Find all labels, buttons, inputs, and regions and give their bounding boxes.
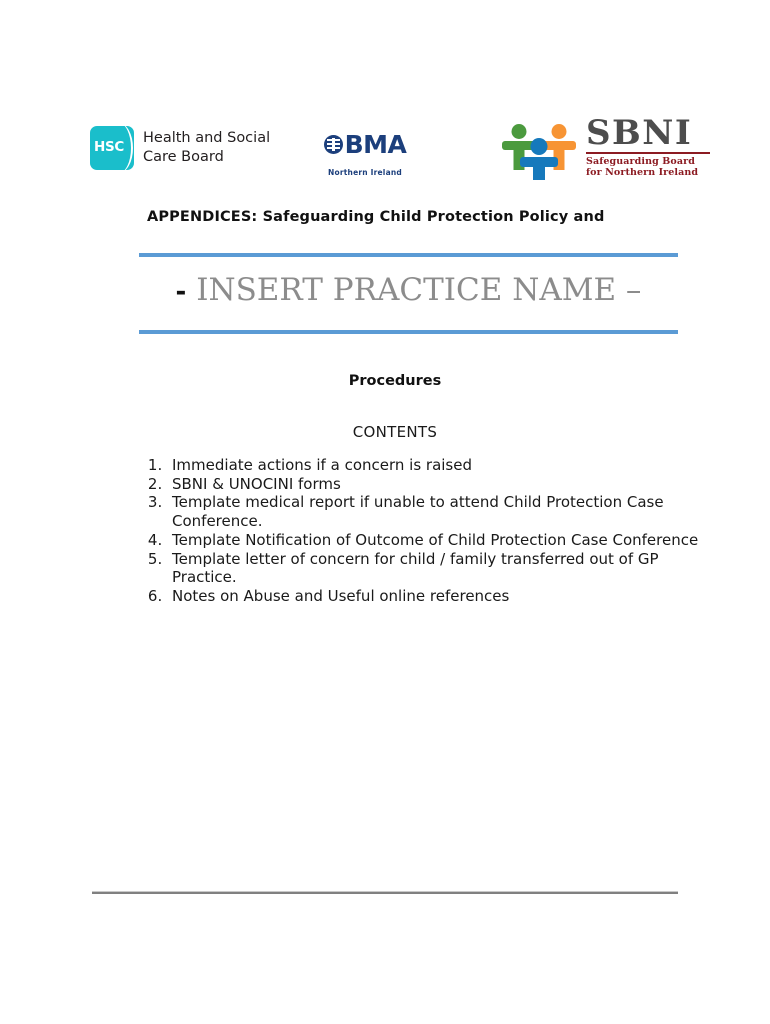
sbni-figure-centre-icon bbox=[520, 138, 558, 178]
sbni-figure-centre-head bbox=[531, 138, 548, 155]
sbni-tagline-line2: for Northern Ireland bbox=[586, 167, 710, 178]
sbni-logo: SBNI Safeguarding Board for Northern Ire… bbox=[500, 116, 710, 178]
hsc-wordmark-line2: Care Board bbox=[143, 148, 270, 167]
bma-roundel-icon bbox=[324, 135, 343, 154]
bma-logo: BMA Northern Ireland bbox=[300, 132, 430, 177]
sbni-tagline-line1: Safeguarding Board bbox=[586, 156, 710, 167]
sbni-acronym: SBNI bbox=[586, 116, 710, 150]
logo-header-strip: HSC Health and Social Care Board BMA Nor… bbox=[0, 112, 770, 198]
appendices-heading: APPENDICES: Safeguarding Child Protectio… bbox=[147, 209, 604, 225]
footer-divider bbox=[92, 891, 678, 894]
hsc-swoosh-secondary-icon bbox=[105, 126, 133, 170]
contents-list-item: Template Notification of Outcome of Chil… bbox=[167, 531, 727, 550]
practice-name-lead-dash: - bbox=[176, 277, 187, 307]
contents-list-item: Immediate actions if a concern is raised bbox=[167, 456, 727, 475]
bma-wordmark: BMA bbox=[345, 132, 407, 157]
contents-list: Immediate actions if a concern is raised… bbox=[140, 456, 727, 606]
practice-name-text: INSERT PRACTICE NAME – bbox=[186, 272, 641, 308]
document-page: { "page": { "background": "#ffffff", "wi… bbox=[0, 0, 770, 1024]
contents-list-item: Template medical report if unable to att… bbox=[167, 493, 727, 530]
sbni-figure-left-head bbox=[512, 124, 527, 139]
practice-name-placeholder: - INSERT PRACTICE NAME – bbox=[139, 268, 678, 314]
contents-list-item: Template letter of concern for child / f… bbox=[167, 550, 727, 587]
bma-logo-main: BMA bbox=[300, 132, 430, 157]
sbni-figure-right-head bbox=[552, 124, 567, 139]
bma-subtitle: Northern Ireland bbox=[300, 168, 430, 177]
contents-list-item: Notes on Abuse and Useful online referen… bbox=[167, 587, 727, 606]
sbni-wordmark-block: SBNI Safeguarding Board for Northern Ire… bbox=[586, 116, 710, 178]
hsc-wordmark-line1: Health and Social bbox=[143, 129, 270, 148]
heading-rule-bottom bbox=[139, 330, 678, 334]
hsc-logo: HSC Health and Social Care Board bbox=[90, 126, 270, 170]
sbni-people-icon bbox=[500, 116, 578, 178]
procedures-heading: Procedures bbox=[139, 373, 651, 389]
hsc-mark-icon: HSC bbox=[90, 126, 134, 170]
sbni-figure-centre-body bbox=[533, 166, 545, 180]
heading-rule-top bbox=[139, 253, 678, 257]
contents-list-item: SBNI & UNOCINI forms bbox=[167, 475, 727, 494]
hsc-logo-wordmark: Health and Social Care Board bbox=[143, 129, 270, 167]
contents-heading: CONTENTS bbox=[139, 423, 651, 441]
